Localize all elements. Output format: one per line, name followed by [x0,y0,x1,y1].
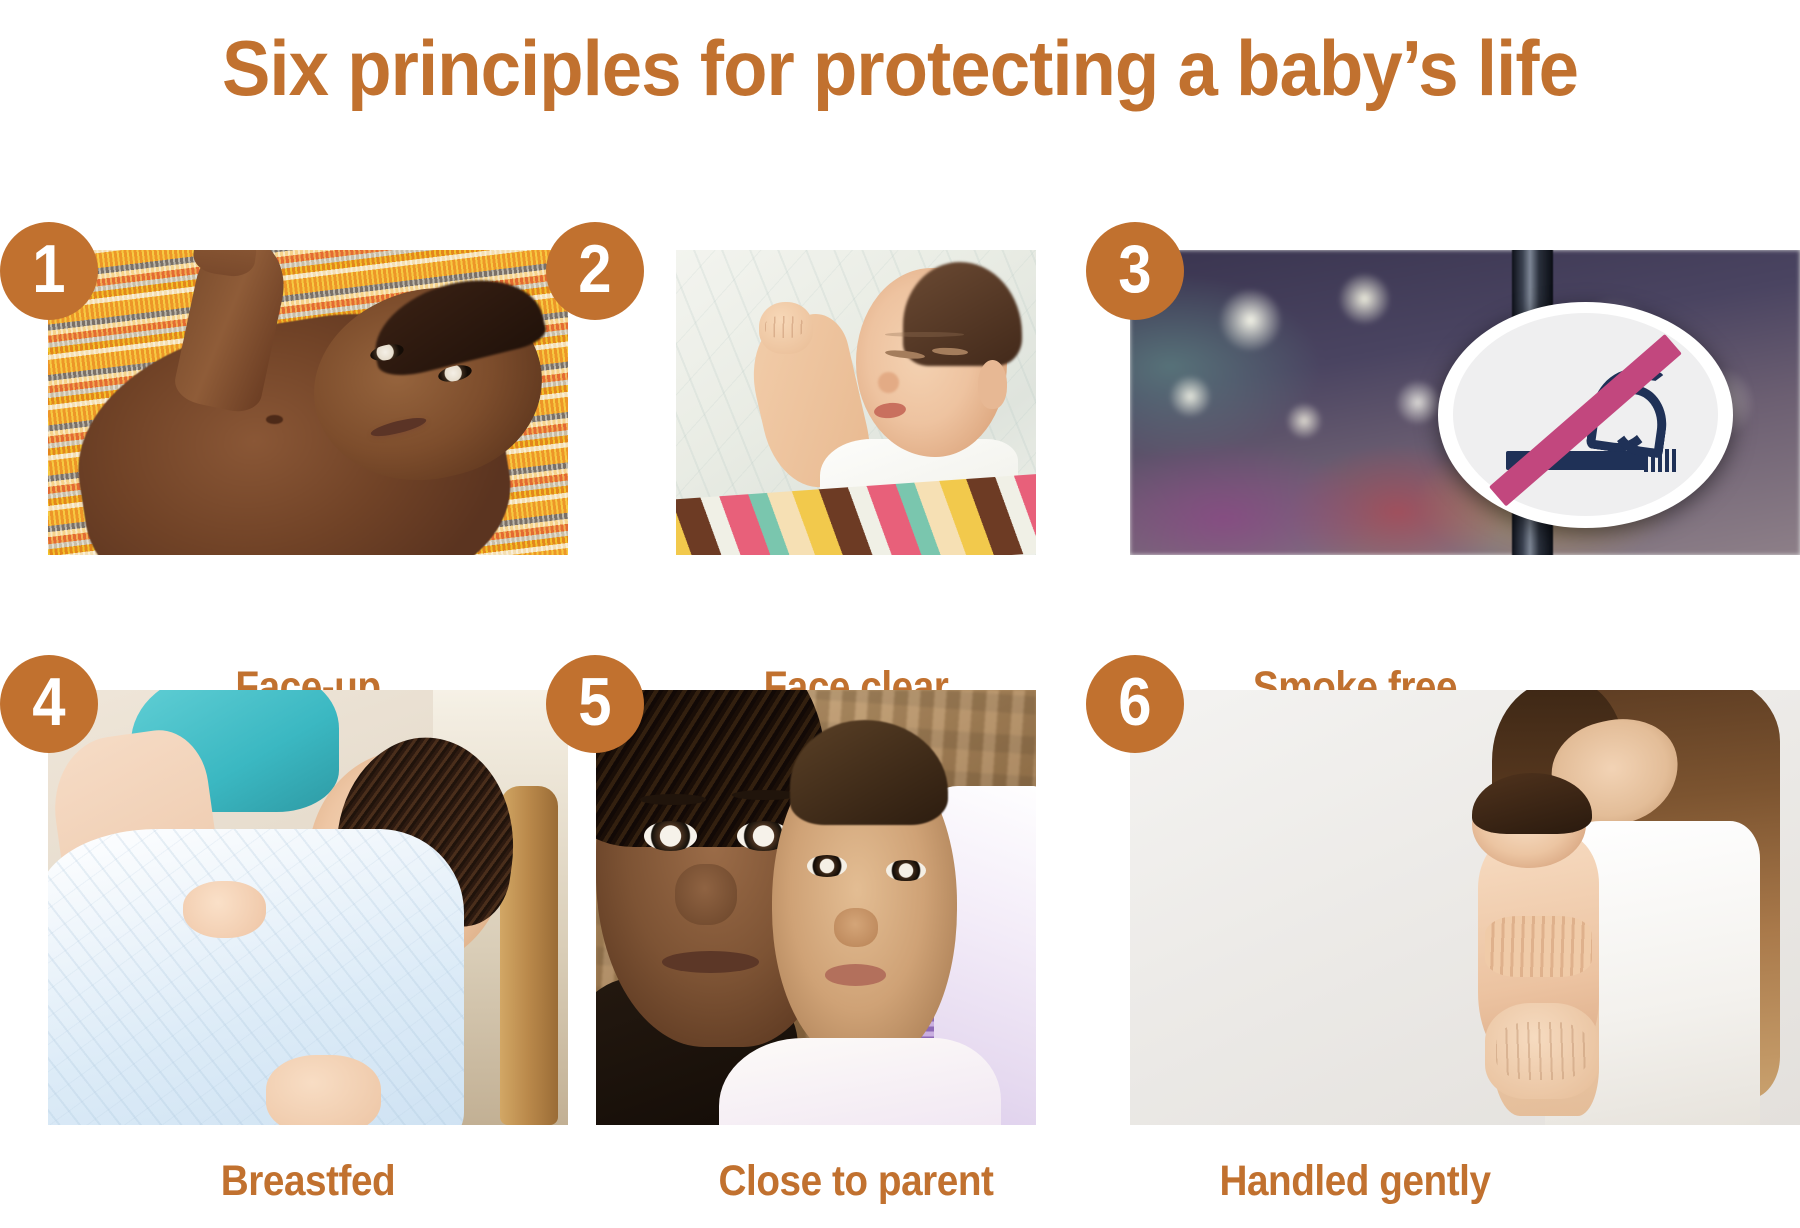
principle-photo-1 [48,250,568,555]
principle-caption-4: Breastfed [74,1158,542,1204]
principle-number-6: 6 [1118,668,1151,736]
mother-nose [675,864,737,925]
principle-photo-2 [676,250,1036,555]
page-title: Six principles for protecting a baby’s l… [63,22,1737,114]
mother-eye-left [644,821,697,851]
blue-blanket [48,829,464,1125]
no-smoking-sign-icon [1438,302,1733,528]
principle-badge-4: 4 [0,655,98,753]
mother-hand [266,1055,380,1125]
principle-photo-4 [48,690,568,1125]
principle-badge-3: 3 [1086,222,1184,320]
infographic-page: Six principles for protecting a baby’s l… [0,0,1800,1228]
principle-number-1: 1 [32,235,65,303]
principle-number-5: 5 [578,668,611,736]
baby-fist [759,302,813,354]
baby-mouth [825,964,887,986]
mother-fingers-support [1485,916,1592,977]
principle-caption-5: Close to parent [622,1158,1090,1204]
principle-badge-5: 5 [546,655,644,753]
mother-brow-left [640,794,706,804]
mother-supporting-hand [1485,1003,1599,1099]
principle-number-3: 3 [1118,235,1151,303]
principle-caption-6: Handled gently [1121,1158,1589,1204]
baby-fist [183,881,266,938]
principle-badge-2: 2 [546,222,644,320]
mother-mouth [662,951,759,973]
principle-number-4: 4 [32,668,65,736]
principle-photo-3 [1130,250,1800,555]
sign-ring [1453,313,1718,516]
principle-badge-1: 1 [0,222,98,320]
principle-badge-6: 6 [1086,655,1184,753]
towel-lower-fold [719,1038,1001,1125]
baby-ear [978,360,1007,409]
principle-photo-5 [596,690,1036,1125]
baby-nose [834,908,878,947]
principle-photo-6 [1130,690,1800,1125]
principle-number-2: 2 [578,235,611,303]
baby-eye-left [807,855,847,877]
